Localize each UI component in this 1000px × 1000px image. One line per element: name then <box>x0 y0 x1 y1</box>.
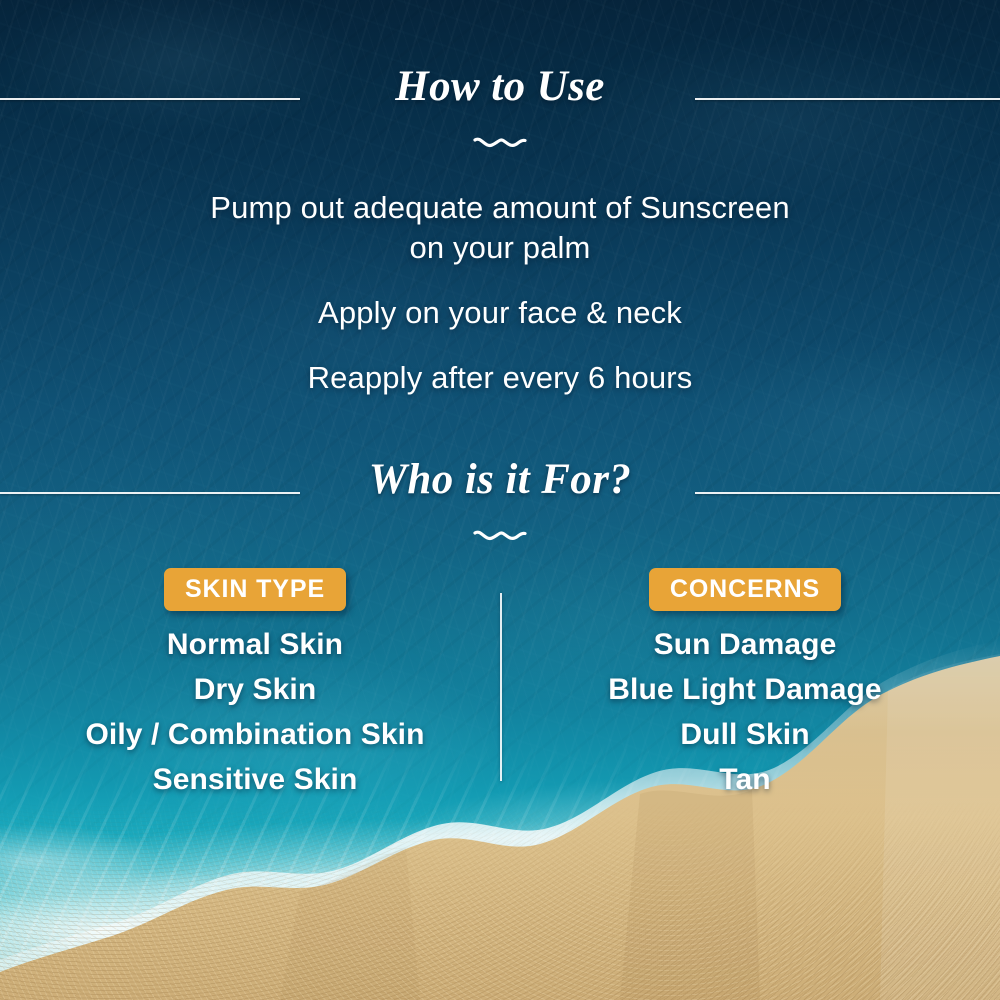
list-item: Tan <box>545 757 945 802</box>
how-to-step-line: Pump out adequate amount of Sunscreen <box>0 188 1000 228</box>
how-to-step: Apply on your face & neck <box>0 293 1000 333</box>
how-to-step: Pump out adequate amount of Sunscreen on… <box>0 188 1000 268</box>
audience-columns: SKIN TYPE Normal Skin Dry Skin Oily / Co… <box>0 568 1000 808</box>
how-to-step-line: Apply on your face & neck <box>0 293 1000 333</box>
column-divider <box>500 593 502 781</box>
concerns-badge: CONCERNS <box>649 568 841 611</box>
wave-squiggle-ornament-1 <box>0 134 1000 152</box>
concerns-column: CONCERNS Sun Damage Blue Light Damage Du… <box>545 568 945 802</box>
how-to-step: Reapply after every 6 hours <box>0 358 1000 398</box>
list-item: Sun Damage <box>545 622 945 667</box>
concerns-list: Sun Damage Blue Light Damage Dull Skin T… <box>545 622 945 802</box>
skin-type-badge: SKIN TYPE <box>164 568 346 611</box>
how-to-use-title: How to Use <box>0 62 1000 111</box>
list-item: Dry Skin <box>55 667 455 712</box>
skin-type-column: SKIN TYPE Normal Skin Dry Skin Oily / Co… <box>55 568 455 802</box>
who-is-it-for-title: Who is it For? <box>0 455 1000 504</box>
list-item: Normal Skin <box>55 622 455 667</box>
wave-squiggle-ornament-2 <box>0 527 1000 545</box>
skin-type-list: Normal Skin Dry Skin Oily / Combination … <box>55 622 455 802</box>
list-item: Sensitive Skin <box>55 757 455 802</box>
how-to-step-line: Reapply after every 6 hours <box>0 358 1000 398</box>
sunscreen-infographic-poster: How to Use Pump out adequate amount of S… <box>0 0 1000 1000</box>
list-item: Dull Skin <box>545 712 945 757</box>
list-item: Oily / Combination Skin <box>55 712 455 757</box>
list-item: Blue Light Damage <box>545 667 945 712</box>
how-to-step-line: on your palm <box>0 228 1000 268</box>
how-to-use-steps: Pump out adequate amount of Sunscreen on… <box>0 188 1000 398</box>
